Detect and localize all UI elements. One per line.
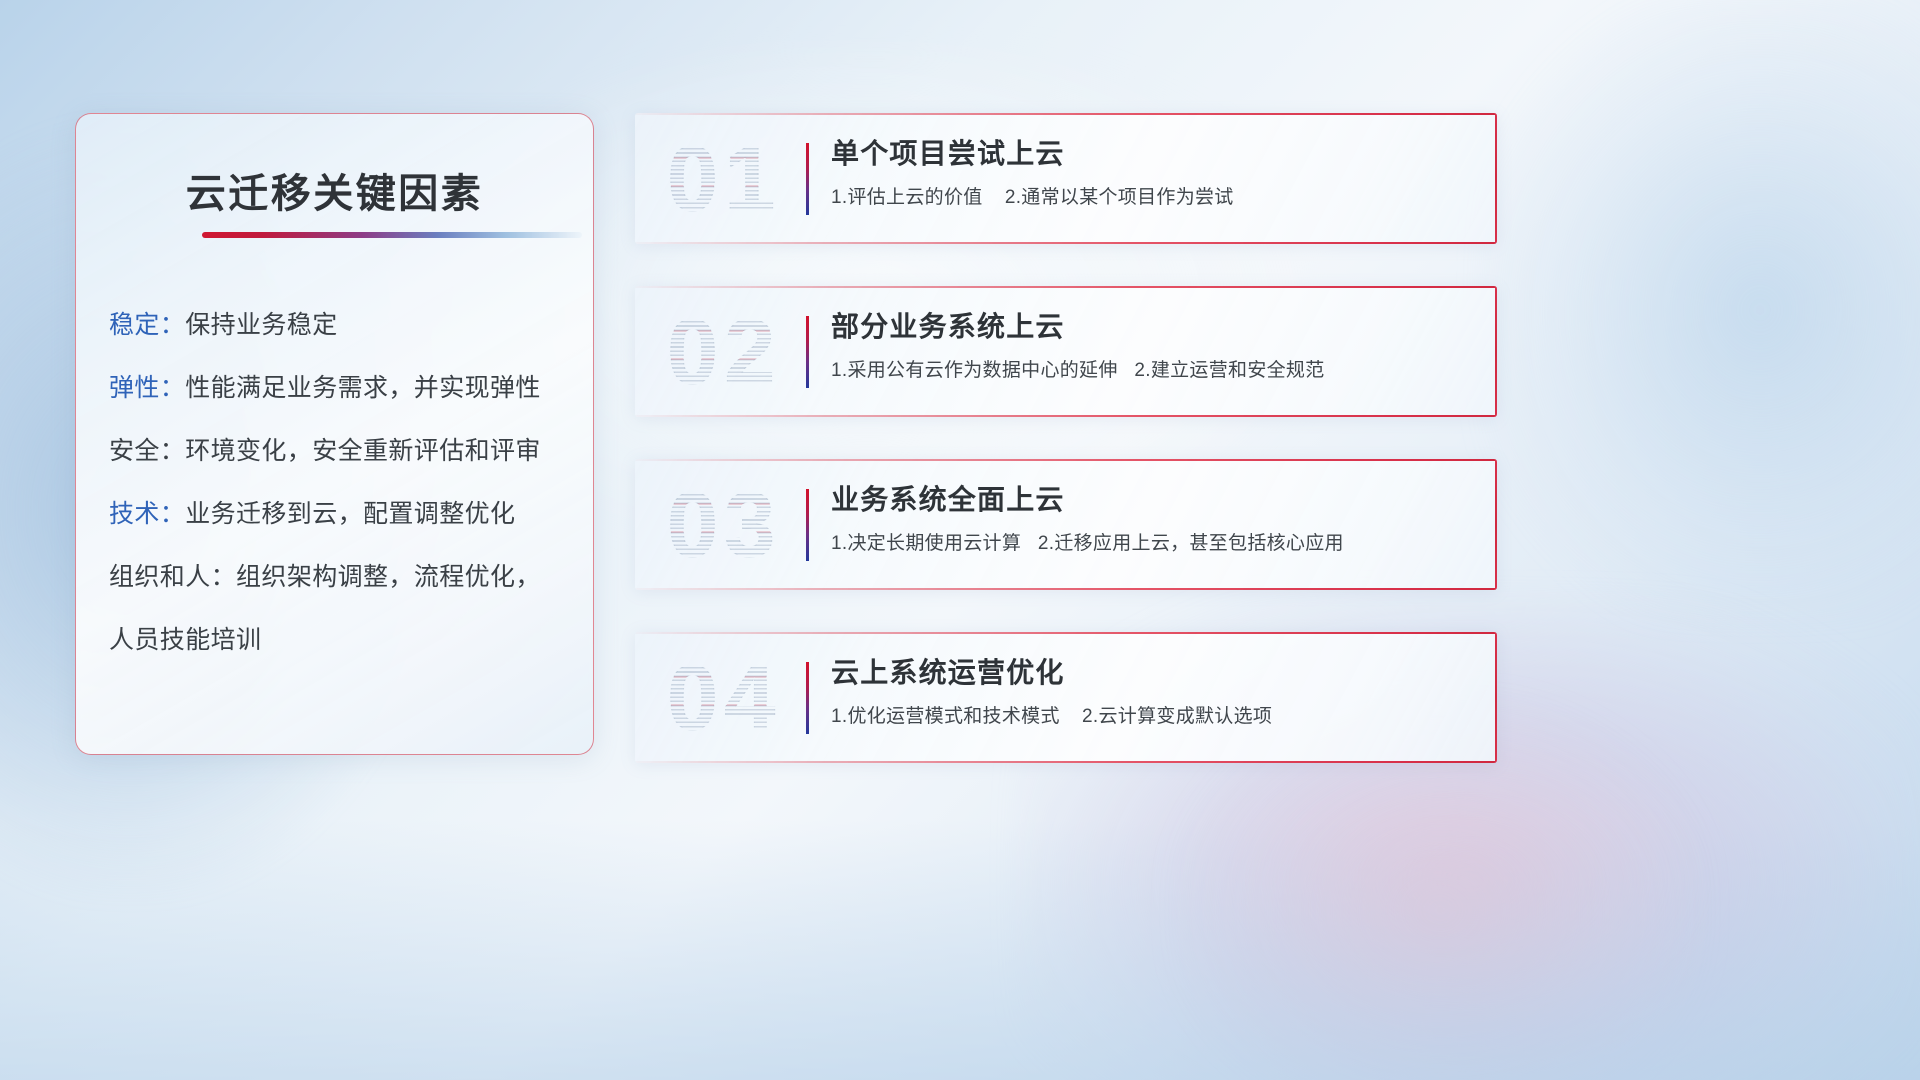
panel-factor-label: 安全： [109, 437, 185, 465]
panel-title-underline [202, 232, 582, 238]
panel-factor-text: 业务迁移到云，配置调整优化 [185, 500, 515, 528]
card-accent-bar [806, 143, 809, 215]
card-text-block: 业务系统全面上云1.决定长期使用云计算 2.迁移应用上云，甚至包括核心应用 [831, 481, 1477, 557]
panel-factor-line: 人员技能培训 [109, 625, 575, 655]
stage-card[interactable]: 0303业务系统全面上云1.决定长期使用云计算 2.迁移应用上云，甚至包括核心应… [635, 459, 1497, 590]
card-accent-bar [806, 489, 809, 561]
card-text-block: 云上系统运营优化1.优化运营模式和技术模式 2.云计算变成默认选项 [831, 654, 1477, 730]
stage-card[interactable]: 0202部分业务系统上云1.采用公有云作为数据中心的延伸 2.建立运营和安全规范 [635, 286, 1497, 417]
card-border-right [1495, 632, 1497, 763]
card-title: 云上系统运营优化 [831, 654, 1477, 692]
panel-factor-line: 稳定：保持业务稳定 [109, 310, 575, 340]
panel-factor-line: 弹性：性能满足业务需求，并实现弹性 [109, 373, 575, 403]
key-factors-panel: 云迁移关键因素 稳定：保持业务稳定弹性：性能满足业务需求，并实现弹性安全：环境变… [75, 113, 594, 755]
panel-factor-line: 安全：环境变化，安全重新评估和评审 [109, 436, 575, 466]
card-description: 1.决定长期使用云计算 2.迁移应用上云，甚至包括核心应用 [831, 531, 1477, 557]
background-glow-right [1480, 0, 1920, 620]
panel-factor-line: 组织和人：组织架构调整，流程优化， [109, 562, 575, 592]
background-vignette-bottom [0, 820, 1920, 1080]
stages-card-list: 0101单个项目尝试上云1.评估上云的价值 2.通常以某个项目作为尝试0202部… [635, 113, 1497, 763]
card-description: 1.优化运营模式和技术模式 2.云计算变成默认选项 [831, 704, 1477, 730]
stage-card[interactable]: 0101单个项目尝试上云1.评估上云的价值 2.通常以某个项目作为尝试 [635, 113, 1497, 244]
card-border-right [1495, 459, 1497, 590]
panel-factor-text: 性能满足业务需求，并实现弹性 [185, 374, 541, 402]
panel-factor-text: 环境变化，安全重新评估和评审 [185, 437, 541, 465]
card-text-block: 单个项目尝试上云1.评估上云的价值 2.通常以某个项目作为尝试 [831, 135, 1477, 211]
card-accent-bar [806, 662, 809, 734]
card-border-bottom [635, 588, 1497, 590]
panel-title: 云迁移关键因素 [76, 161, 593, 219]
panel-factor-label: 技术： [109, 500, 185, 528]
panel-factor-line: 技术：业务迁移到云，配置调整优化 [109, 499, 575, 529]
panel-factor-label: 弹性： [109, 374, 185, 402]
panel-factor-text: 人员技能培训 [109, 626, 261, 654]
card-description: 1.评估上云的价值 2.通常以某个项目作为尝试 [831, 185, 1477, 211]
card-border-bottom [635, 761, 1497, 763]
card-text-block: 部分业务系统上云1.采用公有云作为数据中心的延伸 2.建立运营和安全规范 [831, 308, 1477, 384]
card-border-top [635, 113, 1497, 115]
card-title: 单个项目尝试上云 [831, 135, 1477, 173]
panel-factor-list: 稳定：保持业务稳定弹性：性能满足业务需求，并实现弹性安全：环境变化，安全重新评估… [109, 310, 575, 655]
card-description: 1.采用公有云作为数据中心的延伸 2.建立运营和安全规范 [831, 358, 1477, 384]
card-accent-bar [806, 316, 809, 388]
card-border-bottom [635, 242, 1497, 244]
card-border-top [635, 632, 1497, 634]
card-border-top [635, 459, 1497, 461]
panel-factor-text: 保持业务稳定 [185, 311, 337, 339]
card-border-right [1495, 286, 1497, 417]
panel-factor-text: 组织架构调整，流程优化， [236, 563, 541, 591]
panel-factor-label: 组织和人： [109, 563, 236, 591]
card-title: 部分业务系统上云 [831, 308, 1477, 346]
card-border-bottom [635, 415, 1497, 417]
card-title: 业务系统全面上云 [831, 481, 1477, 519]
card-border-right [1495, 113, 1497, 244]
stage-card[interactable]: 0404云上系统运营优化1.优化运营模式和技术模式 2.云计算变成默认选项 [635, 632, 1497, 763]
panel-factor-label: 稳定： [109, 311, 185, 339]
card-border-top [635, 286, 1497, 288]
